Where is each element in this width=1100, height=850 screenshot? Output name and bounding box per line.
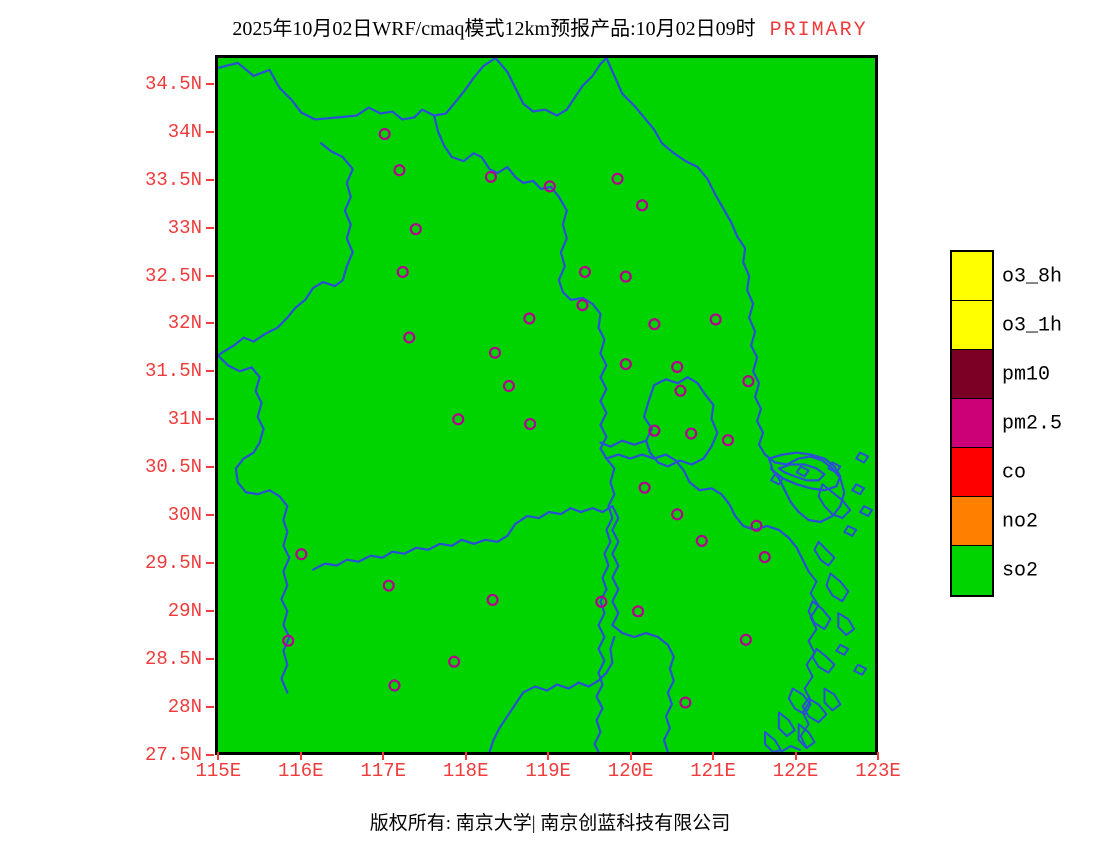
y-axis-label: 33.5N <box>52 169 202 191</box>
y-axis-tick <box>206 610 214 612</box>
legend-swatch <box>952 301 992 350</box>
y-axis-label: 28N <box>52 696 202 718</box>
legend-label: o3_1h <box>1002 314 1062 337</box>
y-axis-label: 34.5N <box>52 73 202 95</box>
station-marker[interactable] <box>525 419 535 429</box>
station-marker[interactable] <box>637 200 647 210</box>
legend-label: pm2.5 <box>1002 412 1062 435</box>
coastline <box>765 453 872 752</box>
legend-swatch <box>952 546 992 595</box>
y-axis-tick <box>206 370 214 372</box>
x-axis-tick <box>465 752 467 760</box>
station-marker[interactable] <box>453 414 463 424</box>
legend-swatch <box>952 399 992 448</box>
y-axis-tick <box>206 514 214 516</box>
legend-swatch <box>952 448 992 497</box>
station-marker[interactable] <box>411 224 421 234</box>
legend-swatch <box>952 497 992 546</box>
station-marker[interactable] <box>404 333 414 343</box>
x-axis-label: 120E <box>608 760 654 782</box>
x-axis-tick <box>712 752 714 760</box>
x-axis-label: 116E <box>278 760 324 782</box>
y-axis-label: 28.5N <box>52 648 202 670</box>
legend-item-pm10[interactable]: pm10 <box>952 350 992 399</box>
y-axis-label: 31.5N <box>52 360 202 382</box>
y-axis-label: 30.5N <box>52 456 202 478</box>
station-marker[interactable] <box>524 313 534 323</box>
station-marker[interactable] <box>390 681 400 691</box>
x-axis-label: 115E <box>195 760 241 782</box>
station-marker[interactable] <box>449 657 459 667</box>
y-axis-label: 29N <box>52 600 202 622</box>
station-marker[interactable] <box>504 381 514 391</box>
x-axis-tick <box>300 752 302 760</box>
map-canvas <box>218 58 875 752</box>
x-axis-label: 122E <box>773 760 819 782</box>
legend-item-o3-8h[interactable]: o3_8h <box>952 252 992 301</box>
pollutant-legend[interactable]: o3_8ho3_1hpm10pm2.5cono2so2 <box>950 250 994 597</box>
legend-swatch <box>952 350 992 399</box>
station-marker[interactable] <box>743 376 753 386</box>
station-marker[interactable] <box>686 429 696 439</box>
station-marker[interactable] <box>621 272 631 282</box>
x-axis-label: 123E <box>855 760 901 782</box>
station-marker[interactable] <box>486 172 496 182</box>
y-axis-tick <box>206 418 214 420</box>
y-axis-tick <box>206 466 214 468</box>
station-markers[interactable] <box>283 129 769 707</box>
y-axis-tick <box>206 562 214 564</box>
station-marker[interactable] <box>488 595 498 605</box>
legend-label: pm10 <box>1002 363 1050 386</box>
y-axis-label: 32N <box>52 312 202 334</box>
y-axis-label: 32.5N <box>52 265 202 287</box>
forecast-map-page: 2025年10月02日WRF/cmaq模式12km预报产品:10月02日09时P… <box>0 0 1100 850</box>
page-title: 2025年10月02日WRF/cmaq模式12km预报产品:10月02日09时P… <box>0 12 1100 42</box>
station-marker[interactable] <box>394 165 404 175</box>
station-marker[interactable] <box>676 386 686 396</box>
map-plot-area[interactable] <box>215 55 878 755</box>
station-marker[interactable] <box>398 267 408 277</box>
station-marker[interactable] <box>621 359 631 369</box>
province-boundaries <box>218 58 844 752</box>
legend-item-no2[interactable]: no2 <box>952 497 992 546</box>
legend-label: co <box>1002 461 1026 484</box>
y-axis-tick <box>206 322 214 324</box>
y-axis-tick <box>206 658 214 660</box>
x-axis-label: 119E <box>525 760 571 782</box>
station-marker[interactable] <box>580 267 590 277</box>
station-marker[interactable] <box>649 319 659 329</box>
page-title-text: 2025年10月02日WRF/cmaq模式12km预报产品:10月02日09时 <box>232 18 755 40</box>
station-marker[interactable] <box>384 581 394 591</box>
station-marker[interactable] <box>672 509 682 519</box>
y-axis-tick <box>206 706 214 708</box>
station-marker[interactable] <box>711 314 721 324</box>
y-axis-label: 33N <box>52 217 202 239</box>
legend-label: so2 <box>1002 559 1038 582</box>
station-marker[interactable] <box>640 483 650 493</box>
station-marker[interactable] <box>633 606 643 616</box>
x-axis-tick <box>877 752 879 760</box>
y-axis-label: 34N <box>52 121 202 143</box>
y-axis-label: 30N <box>52 504 202 526</box>
primary-tag: PRIMARY <box>770 19 868 42</box>
y-axis-label: 29.5N <box>52 552 202 574</box>
station-marker[interactable] <box>296 549 306 559</box>
y-axis-tick <box>206 131 214 133</box>
legend-item-co[interactable]: co <box>952 448 992 497</box>
station-marker[interactable] <box>490 348 500 358</box>
x-axis-tick <box>217 752 219 760</box>
x-axis-label: 117E <box>360 760 406 782</box>
station-marker[interactable] <box>672 362 682 372</box>
y-axis-tick <box>206 83 214 85</box>
x-axis-tick <box>630 752 632 760</box>
y-axis-label: 31N <box>52 408 202 430</box>
y-axis-tick <box>206 179 214 181</box>
station-marker[interactable] <box>741 635 751 645</box>
x-axis-tick <box>547 752 549 760</box>
copyright-footer: 版权所有: 南京大学| 南京创蓝科技有限公司 <box>0 808 1100 835</box>
legend-item-so2[interactable]: so2 <box>952 546 992 595</box>
x-axis-tick <box>382 752 384 760</box>
y-axis-tick <box>206 754 214 756</box>
legend-item-pm2-5[interactable]: pm2.5 <box>952 399 992 448</box>
legend-swatch <box>952 252 992 301</box>
y-axis-label: 27.5N <box>52 744 202 766</box>
station-marker[interactable] <box>680 698 690 708</box>
legend-label: no2 <box>1002 510 1038 533</box>
y-axis-tick <box>206 227 214 229</box>
station-marker[interactable] <box>723 435 733 445</box>
station-marker[interactable] <box>380 129 390 139</box>
station-marker[interactable] <box>578 300 588 310</box>
y-axis-tick <box>206 275 214 277</box>
x-axis-tick <box>795 752 797 760</box>
x-axis-label: 121E <box>690 760 736 782</box>
legend-label: o3_8h <box>1002 265 1062 288</box>
station-marker[interactable] <box>697 536 707 546</box>
x-axis-label: 118E <box>443 760 489 782</box>
legend-item-o3-1h[interactable]: o3_1h <box>952 301 992 350</box>
station-marker[interactable] <box>613 174 623 184</box>
station-marker[interactable] <box>760 552 770 562</box>
